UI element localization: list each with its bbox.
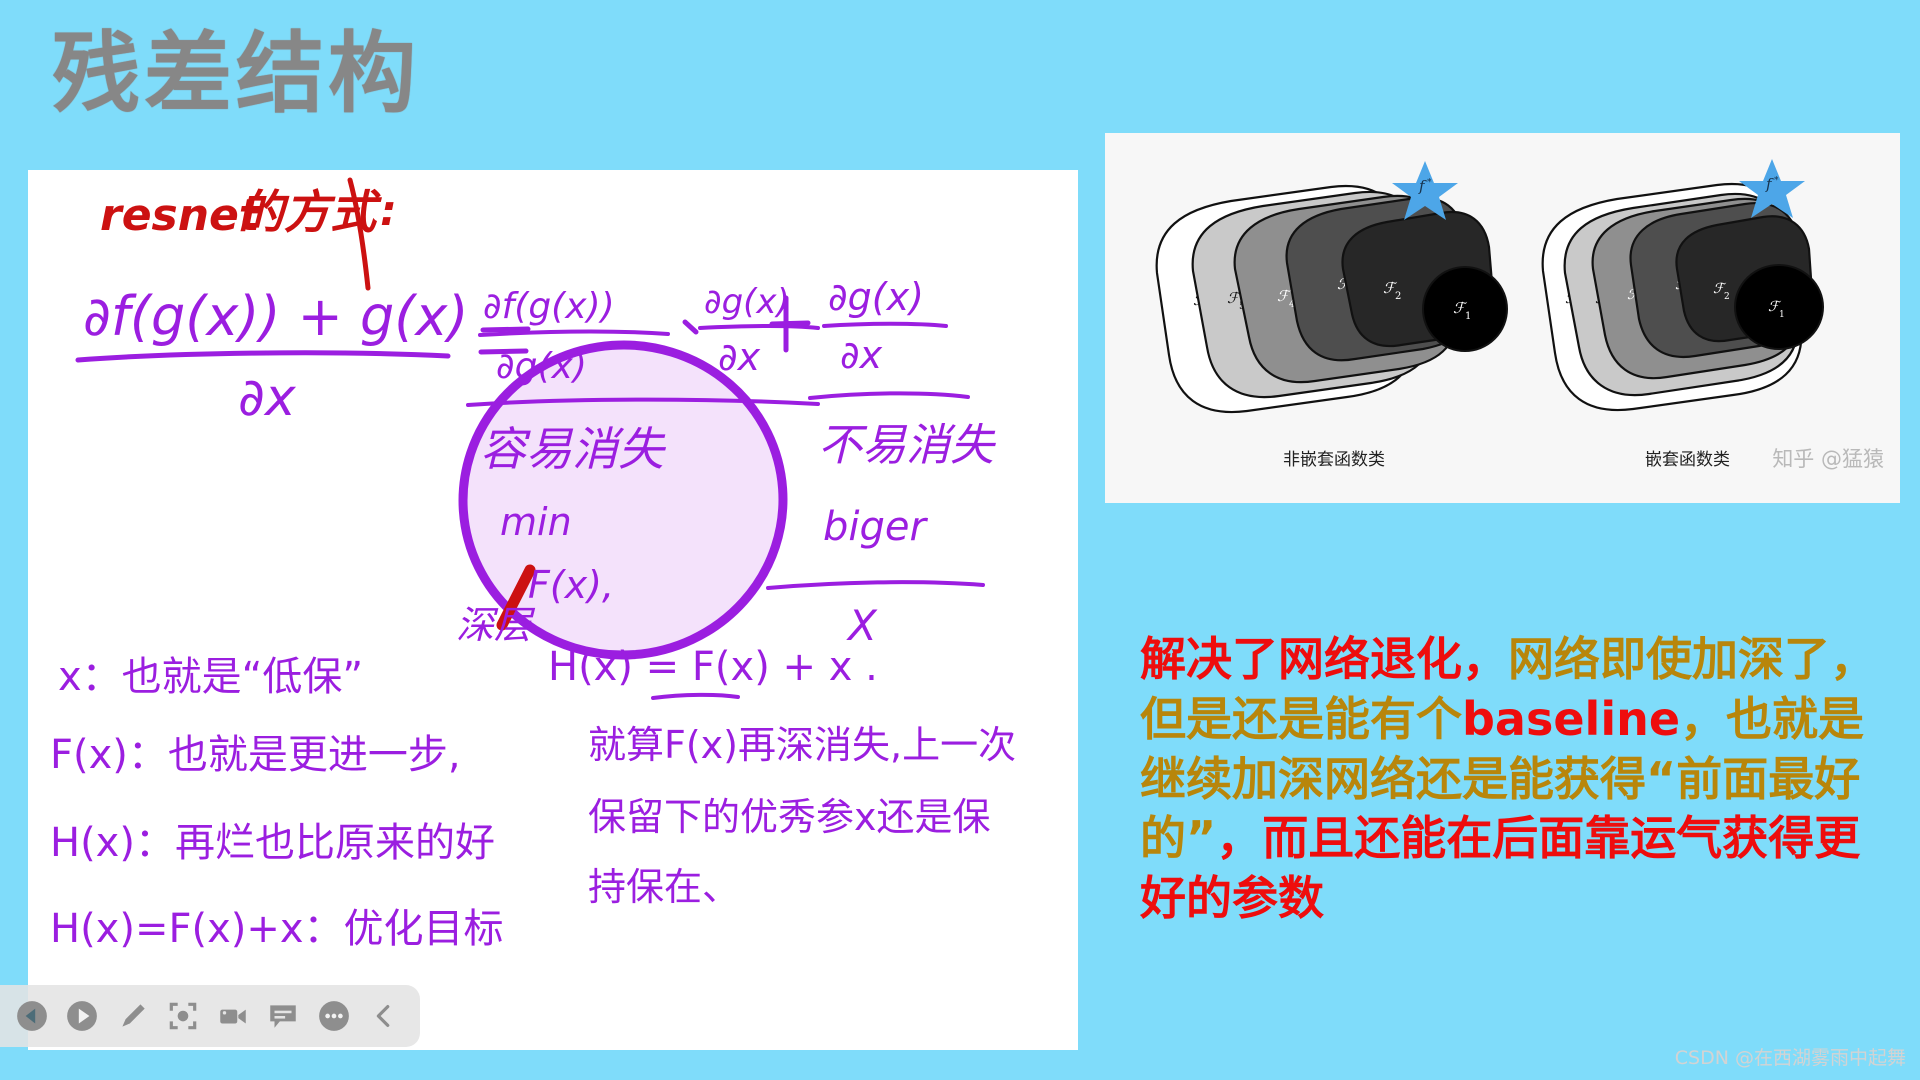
handwriting-notes-right: H(x) = F(x) + x . 就算F(x)再深消失,上一次 保留下的优秀参… [548,644,1016,909]
svg-text:容易消失: 容易消失 [480,422,667,476]
player-toolbar[interactable] [0,985,420,1047]
svg-text:保留下的优秀参x还是保: 保留下的优秀参x还是保 [588,795,991,839]
prev-circle-icon [15,999,49,1033]
record-button[interactable] [215,996,251,1036]
handwriting-heading-resnet: resnet 的方式 : [100,180,397,288]
ellipsis-circle-icon [317,999,351,1033]
svg-text:1: 1 [1779,310,1785,320]
function-class-diagram: ℱ 6 ℱ 5 ℱ 4 ℱ 3 ℱ 2 ℱ 1 f [1105,133,1900,433]
svg-text:*: * [1774,176,1779,186]
svg-text:*: * [1427,178,1432,188]
previous-button[interactable] [14,996,50,1036]
conclusion-segment-5: ，而且还能在后面靠运气获得更好的参数 [1140,811,1860,925]
play-button[interactable] [64,996,100,1036]
svg-text:持保在、: 持保在、 [588,865,740,909]
more-button[interactable] [316,996,352,1036]
svg-text:1: 1 [1465,311,1471,322]
svg-text:min: min [500,500,572,544]
svg-text:2: 2 [1395,291,1401,302]
svg-text:∂f(g(x)) + g(x): ∂f(g(x)) + g(x) [83,285,468,348]
conclusion-text: 解决了网络退化，网络即使加深了，但是还是能有个baseline，也就是继续加深网… [1140,630,1900,929]
collapse-button[interactable] [366,996,402,1036]
svg-text::: : [380,186,397,235]
page-title: 残差结构 [52,28,420,120]
handwriting-formula-right: ∂g(x) ∂x 不易消失 biger X [768,275,996,650]
csdn-watermark: CSDN @在西湖雾雨中起舞 [1675,1043,1906,1070]
zhihu-watermark: 知乎 @猛猿 [1772,443,1884,473]
svg-text:∂x: ∂x [840,333,883,377]
svg-text:就算F(x)再深消失,上一次: 就算F(x)再深消失,上一次 [588,723,1016,767]
svg-text:H(x) = F(x) + x .: H(x) = F(x) + x . [548,644,878,690]
svg-text:F(x)：也就是更进一步,: F(x)：也就是更进一步, [50,732,461,778]
screenshot-button[interactable] [165,996,201,1036]
conclusion-segment-1: 解决了网络退化， [1140,632,1508,686]
video-camera-icon [216,999,250,1033]
whiteboard-canvas[interactable]: resnet 的方式 : ∂f(g(x)) + g(x) ∂x ∂f(g(x))… [28,170,1078,1050]
comment-button[interactable] [265,996,301,1036]
speech-bubble-icon [266,999,300,1033]
svg-text:H(x)=F(x)+x：优化目标: H(x)=F(x)+x：优化目标 [50,906,504,952]
svg-text:biger: biger [823,504,929,550]
svg-text:∂g(x): ∂g(x) [496,346,587,387]
pen-button[interactable] [115,996,151,1036]
diagram-caption-left: 非嵌套函数类 [1283,445,1385,470]
svg-text:∂x: ∂x [718,335,761,379]
svg-text:∂f(g(x)): ∂f(g(x)) [483,286,615,327]
svg-text:∂g(x): ∂g(x) [704,282,790,322]
svg-text:H(x)：再烂也比原来的好: H(x)：再烂也比原来的好 [50,820,495,866]
svg-text:2: 2 [1724,292,1730,302]
chevron-left-icon [369,1001,399,1031]
svg-text:∂x: ∂x [238,368,297,428]
svg-text:F(x),: F(x), [528,563,614,607]
svg-text:不易消失: 不易消失 [818,420,996,471]
pencil-icon [116,999,150,1033]
svg-text:X: X [846,601,878,650]
svg-text:深层: 深层 [456,603,536,647]
focus-frame-icon [166,999,200,1033]
svg-text:∂g(x): ∂g(x) [828,275,924,319]
svg-text:x：也就是“低保”: x：也就是“低保” [58,654,363,700]
handwriting-notes-left: x：也就是“低保” F(x)：也就是更进一步, H(x)：再烂也比原来的好 H(… [50,654,504,952]
play-circle-icon [65,999,99,1033]
conclusion-segment-3: baseline [1462,692,1680,746]
handwriting-formula-left: ∂f(g(x)) + g(x) ∂x [78,285,468,428]
diagram-caption-right: 嵌套函数类 [1645,445,1730,470]
function-class-diagram-card: ℱ 6 ℱ 5 ℱ 4 ℱ 3 ℱ 2 ℱ 1 f [1105,133,1900,503]
